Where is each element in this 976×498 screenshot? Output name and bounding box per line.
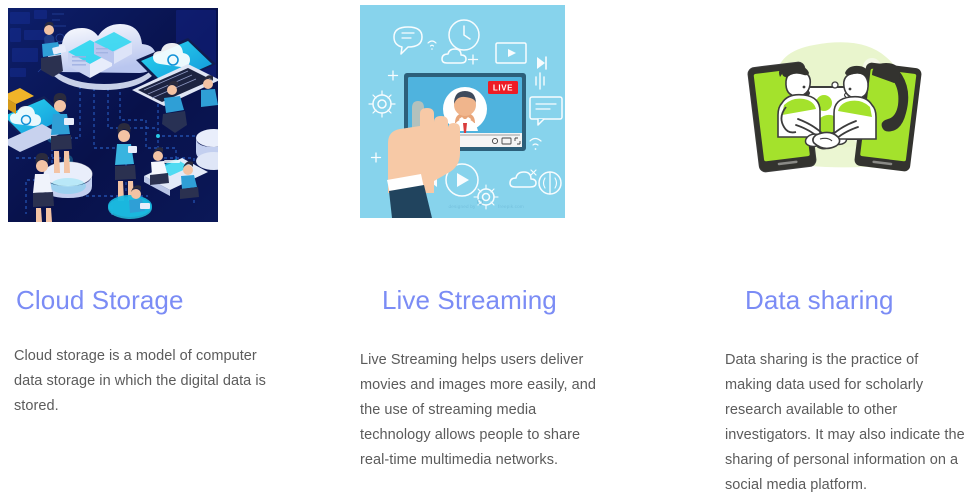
data-sharing-image [720,35,950,195]
cloud-storage-image [8,8,218,222]
live-streaming-image: LIVE [360,5,565,218]
svg-text:freepik.com: freepik.com [498,204,524,209]
svg-text:LIVE: LIVE [493,84,513,93]
live-badge: LIVE [488,81,518,94]
cloud-storage-heading: Cloud Storage [16,287,184,313]
live-streaming-tablet-illustration: LIVE [360,5,565,218]
cloud-storage-body: Cloud storage is a model of computer dat… [14,344,274,419]
feature-column-data-sharing: Data sharing Data sharing is the practic… [690,0,976,485]
cloud-storage-isometric-illustration [8,8,218,222]
feature-columns-page: Cloud Storage Cloud storage is a model o… [0,0,976,485]
feature-column-live-streaming: LIVE [340,0,680,485]
svg-text:designed by: designed by [449,204,476,209]
data-sharing-body: Data sharing is the practice of making d… [725,348,965,498]
live-streaming-heading: Live Streaming [382,287,557,313]
feature-column-cloud-storage: Cloud Storage Cloud storage is a model o… [0,0,330,485]
data-sharing-phones-illustration [720,35,950,195]
live-streaming-body: Live Streaming helps users deliver movie… [360,348,610,473]
data-sharing-heading: Data sharing [745,287,894,313]
